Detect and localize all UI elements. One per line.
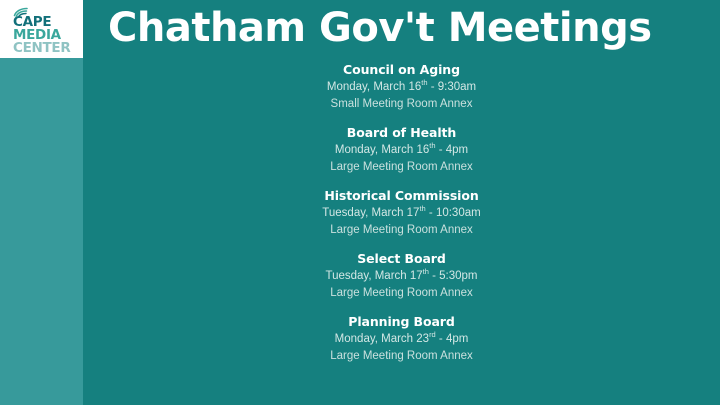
meeting-location: Large Meeting Room Annex [83,159,720,176]
meeting-location: Large Meeting Room Annex [83,285,720,302]
meeting-entry: Planning Board Monday, March 23rd - 4pm … [83,312,720,365]
meeting-time: - 9:30am [428,81,477,93]
meeting-name: Historical Commission [83,186,720,205]
meeting-datetime: Monday, March 16th - 4pm [83,142,720,159]
meeting-datetime: Tuesday, March 17th - 5:30pm [83,268,720,285]
meeting-day: Monday, March 16 [335,144,429,156]
meeting-datetime: Monday, March 16th - 9:30am [83,79,720,96]
meeting-datetime: Monday, March 23rd - 4pm [83,331,720,348]
meeting-day: Tuesday, March 17 [322,207,419,219]
meeting-time: - 4pm [436,333,469,345]
wifi-signal-icon [13,7,30,18]
meeting-location: Large Meeting Room Annex [83,348,720,365]
page-title: Chatham Gov't Meetings [108,2,708,54]
meeting-entry: Board of Health Monday, March 16th - 4pm… [83,123,720,176]
meeting-time: - 10:30am [426,207,481,219]
meeting-day: Monday, March 16 [327,81,421,93]
meeting-name: Planning Board [83,312,720,331]
meeting-name: Select Board [83,249,720,268]
meetings-slide: CAPE MEDIA CENTER Chatham Gov't Meetings… [0,0,720,405]
logo-plate: CAPE MEDIA CENTER [0,0,83,58]
meeting-ordinal: rd [429,330,436,339]
meeting-time: - 5:30pm [429,270,478,282]
logo-text-center: CENTER [13,42,75,55]
meeting-datetime: Tuesday, March 17th - 10:30am [83,205,720,222]
meeting-location: Large Meeting Room Annex [83,222,720,239]
meeting-name: Council on Aging [83,60,720,79]
meeting-entry: Council on Aging Monday, March 16th - 9:… [83,60,720,113]
meeting-entry: Select Board Tuesday, March 17th - 5:30p… [83,249,720,302]
meeting-day: Tuesday, March 17 [326,270,423,282]
meeting-entry: Historical Commission Tuesday, March 17t… [83,186,720,239]
meeting-location: Small Meeting Room Annex [83,96,720,113]
meetings-list: Council on Aging Monday, March 16th - 9:… [83,58,720,405]
cape-media-center-logo: CAPE MEDIA CENTER [13,7,75,56]
left-accent-band [0,0,83,405]
meeting-name: Board of Health [83,123,720,142]
meeting-time: - 4pm [436,144,469,156]
meeting-day: Monday, March 23 [335,333,429,345]
